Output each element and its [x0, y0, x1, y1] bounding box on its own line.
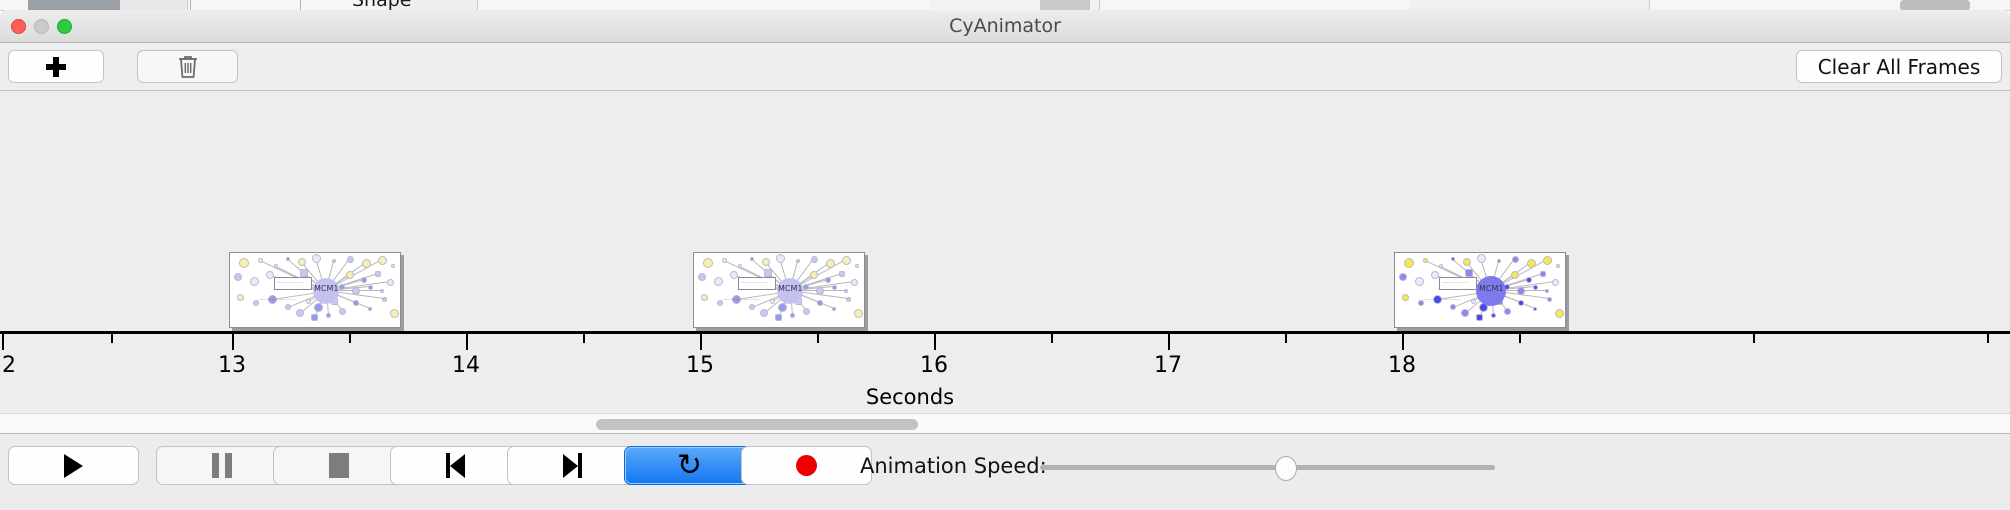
- network-node: [1451, 257, 1455, 261]
- network-node: [703, 258, 713, 268]
- network-node: [258, 258, 263, 263]
- network-node: [234, 273, 242, 281]
- skip-back-icon: [446, 453, 465, 478]
- network-node: [390, 309, 399, 318]
- network-node: [760, 309, 768, 317]
- network-node: [298, 258, 306, 266]
- network-node: [832, 285, 837, 290]
- timeline-axis-line: [0, 331, 2010, 334]
- cyanimator-screen: Shape CyAnimator: [0, 0, 2010, 510]
- network-node: [1439, 264, 1443, 268]
- timeline-tick-minor: [1987, 334, 1989, 343]
- timeline-scrollbar-thumb[interactable]: [596, 419, 918, 430]
- network-node: [1533, 285, 1538, 290]
- transport-bar: ↻ Animation Speed:: [0, 434, 2010, 498]
- animation-speed-label: Animation Speed:: [860, 434, 1047, 498]
- network-node: [380, 289, 384, 293]
- network-node: [803, 308, 810, 315]
- timeline-tick-label: 16: [920, 353, 948, 378]
- network-annotation-callout: ——— —— —— —: [1439, 277, 1477, 290]
- play-button[interactable]: [8, 446, 139, 485]
- network-node: [378, 256, 387, 265]
- timeline-tick-major: [232, 334, 234, 350]
- timeline-tick-major: [1402, 334, 1404, 350]
- network-node: [368, 307, 372, 311]
- network-node: [730, 271, 738, 279]
- timeline-tick-minor: [1753, 334, 1755, 343]
- network-node: [1431, 271, 1439, 279]
- skip-start-button[interactable]: [390, 446, 521, 485]
- cyanimator-window: CyAnimator Clear All Frames ——— —— —— ——: [0, 10, 2010, 510]
- network-node: [285, 304, 291, 310]
- network-node: [387, 279, 394, 286]
- network-node: [816, 287, 824, 295]
- network-node: [237, 294, 244, 301]
- timeline-tick-minor: [817, 334, 819, 343]
- network-node: [1547, 297, 1552, 302]
- network-node: [347, 256, 354, 263]
- network-node: [851, 279, 858, 286]
- axis-title: Seconds: [866, 385, 954, 409]
- network-node: [339, 284, 345, 290]
- network-annotation-text: ———— ————— ———: [258, 297, 296, 301]
- network-node: [722, 258, 727, 263]
- network-node: [1465, 269, 1473, 277]
- network-annotation-callout: ——— —— —— —: [738, 277, 776, 290]
- network-node: [382, 297, 387, 302]
- timeline-panel[interactable]: ——— —— —— ————— ————— ———MCM1——— —— —— —…: [0, 91, 2010, 413]
- network-node: [1512, 256, 1519, 263]
- timeline-scrollbar[interactable]: [0, 413, 2010, 434]
- network-node: [296, 309, 304, 317]
- network-node: [1461, 309, 1469, 317]
- network-node: [811, 256, 818, 263]
- timeline-tick-minor: [583, 334, 585, 343]
- network-node: [749, 304, 755, 310]
- frame-thumbnail[interactable]: ——— —— —— ————— ————— ———MCM1: [229, 252, 401, 328]
- network-node: [698, 273, 706, 281]
- network-node: [274, 264, 278, 268]
- pause-button[interactable]: [156, 446, 287, 485]
- clear-all-frames-button[interactable]: Clear All Frames: [1796, 50, 2002, 83]
- network-node: [1491, 313, 1496, 318]
- loop-button[interactable]: ↻: [624, 446, 755, 485]
- network-node: [391, 264, 395, 268]
- frame-hub-label: MCM1: [1479, 284, 1503, 293]
- network-node: [701, 294, 708, 301]
- timeline-tick-label: 18: [1388, 353, 1416, 378]
- network-node: [1404, 258, 1414, 268]
- stop-icon: [329, 453, 349, 478]
- network-node: [314, 303, 323, 312]
- network-node: [778, 303, 787, 312]
- network-node: [839, 271, 845, 277]
- network-node: [790, 313, 795, 318]
- network-node: [1476, 314, 1483, 321]
- network-node: [1497, 259, 1501, 263]
- network-node: [855, 264, 859, 268]
- network-node: [1504, 308, 1511, 315]
- network-node: [339, 308, 346, 315]
- add-frame-button[interactable]: [8, 50, 104, 83]
- network-node: [1543, 256, 1552, 265]
- timeline-tick-major: [934, 334, 936, 350]
- trash-icon: [177, 54, 199, 80]
- network-node: [1463, 258, 1471, 266]
- network-node: [796, 259, 800, 263]
- network-node: [775, 314, 782, 321]
- network-node: [286, 257, 290, 261]
- timeline-tick-major: [2, 334, 4, 350]
- network-node: [738, 264, 742, 268]
- network-node: [803, 284, 809, 290]
- timeline-tick-label: 14: [452, 353, 480, 378]
- network-node: [846, 297, 851, 302]
- timeline-tick-label: 15: [686, 353, 714, 378]
- network-node: [1402, 294, 1409, 301]
- network-node: [306, 299, 311, 304]
- network-node: [1556, 264, 1560, 268]
- network-node: [300, 269, 308, 277]
- network-node: [1517, 287, 1525, 295]
- network-node: [332, 259, 336, 263]
- network-annotation-text: ———— ————— ———: [722, 297, 760, 301]
- network-node: [826, 259, 835, 268]
- network-node: [1423, 258, 1428, 263]
- network-node: [375, 271, 381, 277]
- network-node: [361, 277, 367, 283]
- skip-end-button[interactable]: [507, 446, 638, 485]
- frame-hub-label: MCM1: [778, 284, 802, 293]
- network-node: [750, 257, 754, 261]
- skip-forward-icon: [563, 453, 582, 478]
- network-node: [810, 271, 818, 279]
- network-node: [1526, 277, 1532, 283]
- network-node: [352, 287, 360, 295]
- network-node: [1540, 271, 1546, 277]
- window-title: CyAnimator: [0, 10, 2010, 43]
- network-node: [1471, 299, 1476, 304]
- network-node: [239, 258, 249, 268]
- timeline-tick-minor: [1051, 334, 1053, 343]
- network-node: [764, 269, 772, 277]
- timeline-tick-major: [466, 334, 468, 350]
- record-button[interactable]: [741, 446, 872, 485]
- background-window-text: Shape: [352, 0, 412, 6]
- network-node: [825, 277, 831, 283]
- network-node: [1555, 309, 1564, 318]
- network-node: [250, 277, 259, 286]
- frame-toolbar: Clear All Frames: [0, 43, 2010, 91]
- network-annotation-text: ———— ————— ———: [1423, 297, 1461, 301]
- animation-speed-slider-knob[interactable]: [1275, 456, 1297, 481]
- timeline-tick-major: [1168, 334, 1170, 350]
- network-node: [854, 309, 863, 318]
- network-node: [770, 299, 775, 304]
- network-node: [844, 289, 848, 293]
- animation-speed-slider[interactable]: [1040, 465, 1495, 470]
- network-node: [1533, 307, 1537, 311]
- network-node: [817, 300, 823, 306]
- network-node: [776, 254, 785, 263]
- stop-button[interactable]: [273, 446, 404, 485]
- record-icon: [796, 455, 817, 476]
- network-annotation-callout: ——— —— —— —: [274, 277, 312, 290]
- plus-icon: [46, 57, 66, 77]
- delete-frame-button[interactable]: [137, 50, 238, 83]
- timeline-tick-minor: [111, 334, 113, 343]
- network-node: [832, 307, 836, 311]
- window-titlebar: CyAnimator: [0, 10, 2010, 43]
- network-node: [1527, 259, 1536, 268]
- timeline-tick-label: 17: [1154, 353, 1182, 378]
- network-node: [1552, 279, 1559, 286]
- network-node: [353, 300, 359, 306]
- timeline-tick-minor: [1519, 334, 1521, 343]
- network-node: [312, 254, 321, 263]
- network-node: [368, 285, 373, 290]
- network-node: [714, 277, 723, 286]
- network-node: [1477, 254, 1486, 263]
- network-node: [311, 314, 318, 321]
- timeline-tick-minor: [349, 334, 351, 343]
- network-node: [346, 271, 354, 279]
- timeline-tick-minor: [1285, 334, 1287, 343]
- network-node: [1518, 300, 1524, 306]
- network-node: [1450, 304, 1456, 310]
- network-node: [1415, 277, 1424, 286]
- network-node: [1399, 273, 1407, 281]
- frame-thumbnail[interactable]: ——— —— —— ————— ————— ———MCM1: [693, 252, 865, 328]
- timeline-tick-major: [700, 334, 702, 350]
- clear-all-frames-label: Clear All Frames: [1818, 55, 1981, 79]
- loop-icon: ↻: [677, 451, 702, 481]
- network-node: [326, 313, 331, 318]
- network-node: [266, 271, 274, 279]
- network-node: [1511, 271, 1519, 279]
- timeline-tick-label: 12: [0, 353, 16, 378]
- play-icon: [64, 454, 83, 478]
- frame-thumbnails-layer: ——— —— —— ————— ————— ———MCM1——— —— —— —…: [0, 91, 2010, 333]
- timeline-tick-label: 13: [218, 353, 246, 378]
- network-node: [362, 259, 371, 268]
- network-node: [762, 258, 770, 266]
- frame-thumbnail[interactable]: ——— —— —— ————— ————— ———MCM1: [1394, 252, 1566, 328]
- network-node: [1545, 289, 1549, 293]
- frame-hub-label: MCM1: [314, 284, 338, 293]
- pause-icon: [212, 453, 232, 478]
- network-node: [842, 256, 851, 265]
